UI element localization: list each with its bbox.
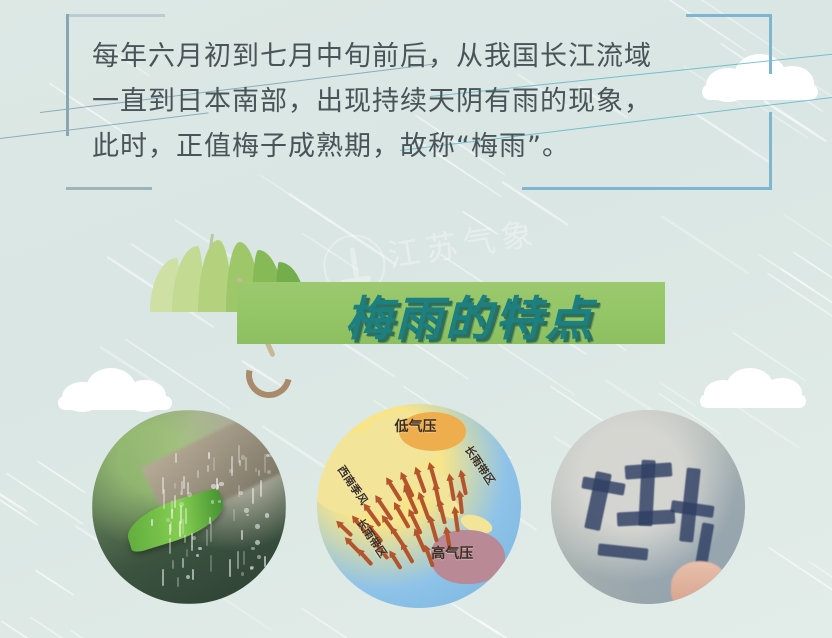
- umbrella-handle: [237, 343, 300, 406]
- frame-corner-top-right: [686, 14, 772, 17]
- page-title: 梅雨的特点: [270, 283, 670, 345]
- rain-drops: [92, 410, 286, 604]
- cloud-right: [700, 366, 810, 408]
- mouldy-window-photo: [551, 410, 745, 604]
- frame-corner-bottom-right: [522, 187, 772, 190]
- stroke-5: [617, 509, 676, 526]
- frame-edge-top-right: [769, 14, 772, 74]
- frame-edge-bottom-right: [769, 112, 772, 190]
- weather-map-photo: 低气压 高气压 西南季风 长雨带区 长雨带区: [317, 404, 521, 608]
- quote-paragraph: 每年六月初到七月中旬前后，从我国长江流域一直到日本南部，出现持续天阴有雨的现象，…: [92, 34, 652, 169]
- frame-edge-left: [66, 14, 69, 136]
- map-label-low-pressure: 低气压: [395, 416, 437, 436]
- finger: [671, 561, 729, 604]
- frame-corner-bottom-left: [66, 187, 152, 190]
- map-label-high-pressure: 高气压: [431, 543, 473, 563]
- watermark-text: 江苏气象: [384, 208, 541, 277]
- infographic-root: 每年六月初到七月中旬前后，从我国长江流域一直到日本南部，出现持续天阴有雨的现象，…: [0, 0, 832, 638]
- rainy-leaf-photo: [92, 410, 286, 604]
